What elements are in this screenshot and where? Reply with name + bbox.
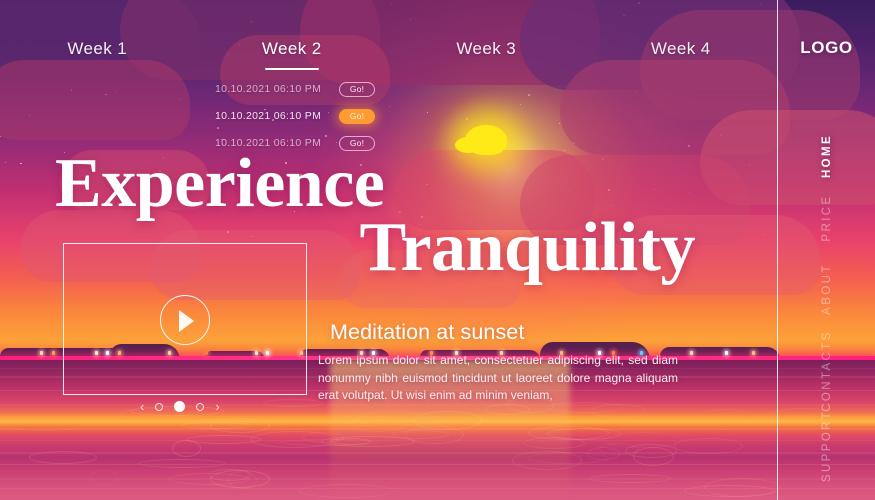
sidebar-item-label: HOME <box>821 134 833 178</box>
hero-paragraph: Lorem ipsum dolor sit amet, consectetuer… <box>318 352 678 405</box>
logo[interactable]: LOGO <box>778 38 875 58</box>
schedule-go-button[interactable]: Go! <box>339 109 375 124</box>
sidebar-item-label: CONTACTS <box>821 330 833 412</box>
water-ripple <box>29 451 97 464</box>
carousel-dot-2[interactable] <box>174 401 185 412</box>
water-ripple <box>512 451 582 470</box>
city-light <box>40 351 43 355</box>
play-button-icon[interactable] <box>160 295 210 345</box>
water-ripple <box>589 474 671 483</box>
water-ripple <box>528 426 609 440</box>
week-tab-1[interactable]: Week 1 <box>0 39 195 59</box>
week-tab-4[interactable]: Week 4 <box>584 39 779 59</box>
week-tabs: Week 1Week 2Week 3Week 4 <box>0 34 778 64</box>
schedule-row[interactable]: 10.10.2021 06:10 PMGo! <box>215 78 375 100</box>
sidebar-item-label: ABOUT <box>821 263 833 315</box>
headline-line-1: Experience <box>55 152 695 216</box>
water-ripple <box>182 422 251 429</box>
schedule-row[interactable]: 10.10.2021 06:10 PMGo! <box>215 105 375 127</box>
sidebar-item-support[interactable]: SUPPORT <box>821 410 833 482</box>
schedule-go-button[interactable]: Go! <box>339 82 375 97</box>
city-light <box>752 351 755 355</box>
sidebar-item-price[interactable]: PRICE <box>821 194 833 241</box>
star <box>520 104 521 105</box>
water-ripple <box>138 459 225 468</box>
water-ripple <box>413 411 482 430</box>
water-ripple <box>330 438 371 445</box>
sidebar-item-label: PRICE <box>821 194 833 241</box>
water-ripple <box>90 470 118 485</box>
carousel-controls: ‹ › <box>140 400 220 413</box>
carousel-dot-3[interactable] <box>196 403 204 411</box>
active-tab-underline <box>265 68 319 70</box>
water-ripple <box>599 443 638 455</box>
week-tab-label: Week 2 <box>262 39 322 58</box>
landing-page: Week 1Week 2Week 3Week 4 10.10.2021 06:1… <box>0 0 875 500</box>
cloud <box>0 60 190 140</box>
week-tab-3[interactable]: Week 3 <box>389 39 584 59</box>
schedule-time: 10.10.2021 06:10 PM <box>215 110 321 122</box>
week-tab-label: Week 3 <box>456 39 516 58</box>
schedule-time: 10.10.2021 06:10 PM <box>215 83 321 95</box>
wave-line <box>0 452 875 454</box>
week-tab-2[interactable]: Week 2 <box>195 39 390 59</box>
sun-icon <box>465 125 507 155</box>
water-ripple <box>674 438 743 454</box>
carousel-dot-1[interactable] <box>155 403 163 411</box>
right-sidebar: LOGO HOMEPRICEABOUTCONTACTSSUPPORT <box>778 0 875 500</box>
water-ripple <box>696 409 756 427</box>
carousel-next-icon[interactable]: › <box>215 400 219 413</box>
city-light <box>52 351 55 355</box>
sidebar-item-about[interactable]: ABOUT <box>821 263 833 315</box>
sidebar-item-label: SUPPORT <box>821 410 833 482</box>
carousel-dots <box>155 401 204 412</box>
sidebar-item-contacts[interactable]: CONTACTS <box>821 330 833 412</box>
city-light <box>725 351 728 355</box>
sidebar-item-home[interactable]: HOME <box>821 134 833 178</box>
carousel-prev-icon[interactable]: ‹ <box>140 400 144 413</box>
water-ripple <box>0 418 86 431</box>
hero-subtitle: Meditation at sunset <box>330 320 678 345</box>
star <box>564 150 565 151</box>
water-ripple <box>684 485 775 497</box>
water-ripple <box>263 399 323 407</box>
water-ripple <box>186 435 261 444</box>
water-ripple <box>391 430 449 439</box>
week-tab-label: Week 4 <box>651 39 711 58</box>
city-light <box>690 351 693 355</box>
wave-line <box>0 464 875 465</box>
water-ripple <box>210 470 270 488</box>
water-ripple <box>299 484 393 498</box>
week-tab-label: Week 1 <box>67 39 127 58</box>
